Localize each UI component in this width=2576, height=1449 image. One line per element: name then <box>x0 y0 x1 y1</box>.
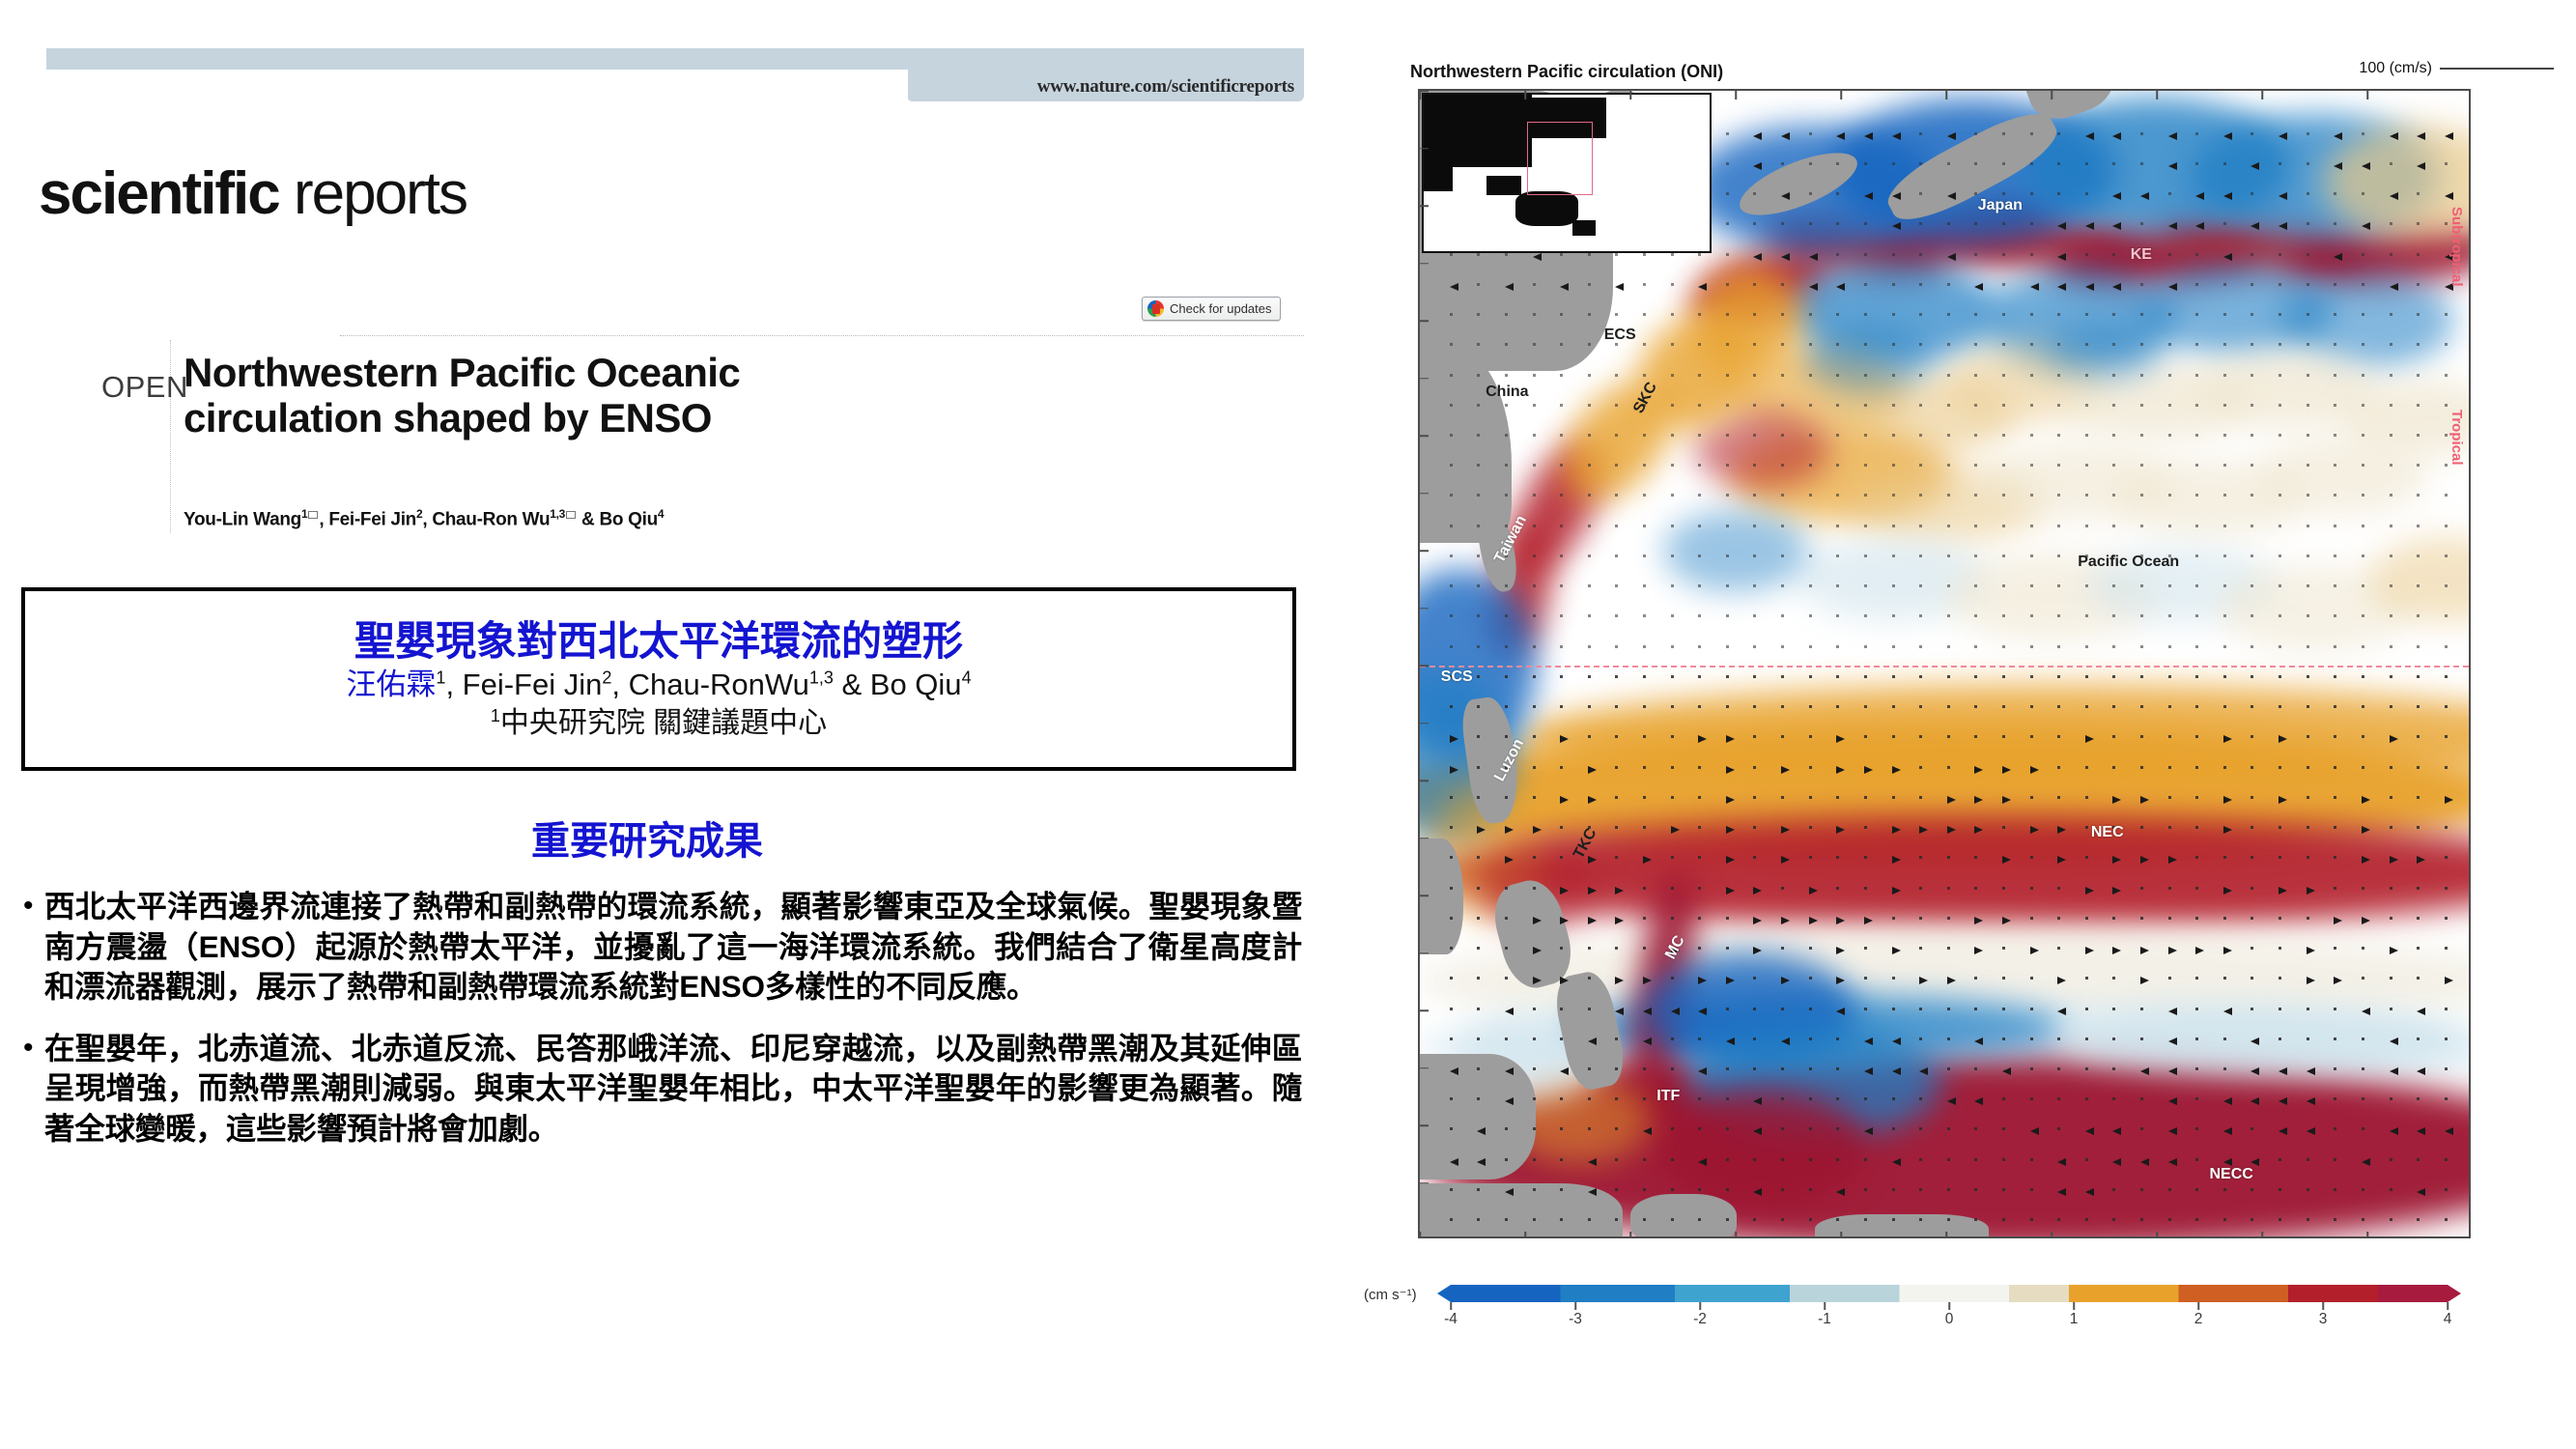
current-arrow <box>2168 1188 2171 1191</box>
current-arrow <box>1864 735 1867 738</box>
current-arrow <box>1919 343 1922 346</box>
current-arrow <box>1974 1008 1977 1010</box>
current-arrow <box>1836 645 1839 648</box>
current-arrow <box>2334 525 2336 527</box>
current-arrow <box>1781 525 1784 527</box>
current-arrow <box>2168 283 2177 291</box>
current-arrow <box>2002 253 2005 256</box>
current-arrow <box>2362 887 2364 890</box>
current-arrow <box>1643 464 1646 467</box>
current-arrow <box>2307 374 2309 377</box>
current-arrow <box>2334 434 2336 437</box>
current-arrow <box>1698 917 1701 920</box>
current-arrow <box>1505 434 1508 437</box>
current-arrow <box>1809 494 1812 497</box>
current-arrow <box>2168 705 2171 708</box>
current-arrow <box>1726 614 1729 617</box>
current-arrow <box>1671 343 1674 346</box>
current-arrow <box>2030 1188 2033 1191</box>
current-arrow <box>1588 253 1591 256</box>
current-arrow <box>1477 645 1480 648</box>
current-arrow <box>2279 1097 2287 1105</box>
current-arrow <box>1836 796 1839 799</box>
current-arrow <box>2417 887 2420 890</box>
current-arrow <box>1671 856 1674 859</box>
current-arrow <box>2085 374 2088 377</box>
current-arrow <box>2168 947 2177 954</box>
map-label-necc: NECC <box>2210 1166 2253 1183</box>
current-arrow <box>2390 947 2398 954</box>
current-arrow <box>2112 735 2115 738</box>
current-arrow <box>1864 645 1867 648</box>
current-arrow <box>1505 947 1508 950</box>
current-arrow <box>1753 554 1756 557</box>
current-arrow <box>1726 917 1729 920</box>
current-arrow <box>2112 1158 2121 1166</box>
current-arrow <box>2279 1158 2281 1161</box>
current-arrow <box>2195 132 2198 135</box>
current-arrow <box>1588 283 1591 286</box>
current-arrow <box>1588 705 1591 708</box>
current-arrow <box>1698 584 1701 587</box>
current-arrow <box>2223 192 2232 200</box>
current-arrow <box>1892 525 1895 527</box>
current-arrow <box>1588 1067 1591 1070</box>
current-arrow <box>2390 132 2398 140</box>
current-arrow <box>2445 1158 2448 1161</box>
current-arrow <box>2390 796 2392 799</box>
current-arrow <box>2112 132 2121 140</box>
y-axis-tick <box>1420 1067 1429 1069</box>
current-arrow <box>2417 796 2420 799</box>
current-arrow <box>1836 374 1839 377</box>
current-arrow <box>1836 343 1839 346</box>
current-arrow <box>1477 766 1480 769</box>
current-arrow <box>2002 162 2005 165</box>
current-arrow <box>2362 796 2370 804</box>
y-axis-tick <box>1420 148 1429 150</box>
map-label-itf: ITF <box>1656 1088 1680 1105</box>
current-arrow <box>2279 494 2281 497</box>
colorbar-tick-label: 3 <box>2319 1311 2328 1328</box>
current-arrow <box>2195 705 2198 708</box>
current-arrow <box>1947 494 1950 497</box>
current-arrow <box>2334 1037 2336 1040</box>
current-arrow <box>2362 434 2364 437</box>
current-arrow <box>1919 796 1922 799</box>
current-arrow <box>2030 856 2033 859</box>
current-arrow <box>1753 584 1756 587</box>
current-arrow <box>1974 1037 1983 1045</box>
current-arrow <box>1864 525 1867 527</box>
current-arrow <box>2445 374 2448 377</box>
paper-title: Northwestern Pacific Oceanic circulation… <box>184 350 821 441</box>
current-arrow <box>1533 796 1536 799</box>
current-arrow <box>2195 977 2198 980</box>
check-for-updates-label: Check for updates <box>1170 301 1272 316</box>
current-arrow <box>2223 374 2226 377</box>
chinese-affiliation: 1中央研究院 關鍵議題中心 <box>491 705 827 742</box>
current-arrow <box>1726 283 1729 286</box>
current-arrow <box>2334 132 2342 140</box>
current-arrow <box>1836 494 1839 497</box>
current-arrow <box>2223 645 2226 648</box>
current-arrow <box>2250 887 2253 890</box>
current-arrow <box>2002 584 2005 587</box>
colorbar-tick-label: 1 <box>2070 1311 2079 1328</box>
current-arrow <box>1892 343 1895 346</box>
current-arrow <box>2223 1127 2232 1135</box>
current-arrow <box>2334 1188 2336 1191</box>
current-arrow <box>2168 1037 2177 1045</box>
current-arrow <box>1698 977 1707 984</box>
current-arrow <box>2030 1067 2033 1070</box>
current-arrow <box>2112 947 2121 954</box>
y-axis-tick <box>1420 780 1429 781</box>
current-arrow <box>2334 494 2336 497</box>
current-arrow <box>1726 434 1729 437</box>
x-axis-tick-label: 130°E <box>1715 1236 1756 1238</box>
current-arrow <box>1450 404 1453 407</box>
current-arrow <box>1615 977 1624 984</box>
current-arrow <box>2362 494 2364 497</box>
circulation-map[interactable]: ChinaECSJapanKESKCTaiwanPacific OceanSCS… <box>1418 89 2471 1238</box>
current-arrow <box>1615 253 1618 256</box>
current-arrow <box>1836 434 1839 437</box>
current-arrow <box>1671 554 1674 557</box>
current-arrow <box>2030 1127 2039 1135</box>
current-arrow <box>1809 705 1812 708</box>
current-arrow <box>2390 374 2392 377</box>
current-arrow <box>1947 1188 1950 1191</box>
current-arrow <box>2085 614 2088 617</box>
current-arrow <box>1533 977 1542 984</box>
paper-authors: You-Lin Wang1, Fei-Fei Jin2, Chau-Ron Wu… <box>184 507 956 530</box>
current-arrow <box>2334 313 2336 316</box>
current-arrow <box>2334 554 2336 557</box>
current-arrow <box>2140 1158 2149 1166</box>
current-arrow <box>1477 977 1480 980</box>
current-arrow <box>1919 947 1922 950</box>
current-arrow <box>2195 434 2198 437</box>
current-arrow <box>2168 162 2177 170</box>
current-arrow <box>1974 434 1977 437</box>
current-arrow <box>2030 525 2033 527</box>
current-arrow <box>1560 283 1569 291</box>
current-arrow <box>1947 313 1950 316</box>
current-arrow <box>1643 1067 1646 1070</box>
current-arrow <box>1643 253 1646 256</box>
current-arrow <box>2085 1037 2088 1040</box>
current-arrow <box>1505 1218 1508 1221</box>
current-arrow <box>1781 374 1784 377</box>
current-arrow <box>1533 434 1536 437</box>
current-arrow <box>2445 222 2448 225</box>
current-arrow <box>2307 947 2315 954</box>
current-arrow <box>1947 977 1956 984</box>
current-arrow <box>1588 584 1591 587</box>
current-arrow <box>2250 222 2259 230</box>
current-arrow <box>2223 222 2226 225</box>
current-arrow <box>1643 584 1646 587</box>
current-arrow <box>1533 917 1542 924</box>
current-arrow <box>2057 1218 2060 1221</box>
current-arrow <box>1450 1037 1453 1040</box>
current-arrow <box>1892 1037 1901 1045</box>
current-arrow <box>1892 1188 1895 1191</box>
current-arrow <box>2002 887 2005 890</box>
current-arrow <box>1643 887 1646 890</box>
x-axis-tick-label: 158°E <box>2452 1236 2471 1238</box>
map-label-ke: KE <box>2131 246 2152 264</box>
current-arrow <box>1974 614 1977 617</box>
current-arrow <box>2002 705 2005 708</box>
current-arrow <box>1781 1067 1784 1070</box>
current-arrow <box>1947 162 1950 165</box>
current-arrow <box>1864 1218 1867 1221</box>
current-arrow <box>2390 977 2392 980</box>
current-arrow <box>2250 614 2253 617</box>
current-arrow <box>1533 766 1536 769</box>
current-arrow <box>1947 1218 1950 1221</box>
current-arrow <box>1919 222 1922 225</box>
current-arrow <box>1864 464 1867 467</box>
current-arrow <box>1947 614 1950 617</box>
current-arrow <box>2445 977 2453 984</box>
current-arrow <box>1919 283 1922 286</box>
current-arrow <box>1615 525 1618 527</box>
current-arrow <box>1477 494 1480 497</box>
current-arrow <box>2250 162 2259 170</box>
current-arrow <box>2279 887 2287 895</box>
current-arrow <box>1836 1218 1839 1221</box>
current-arrow <box>2390 464 2392 467</box>
current-arrow <box>2140 1097 2143 1100</box>
current-arrow <box>1919 162 1922 165</box>
current-arrow <box>1726 374 1729 377</box>
current-arrow <box>2334 1218 2336 1221</box>
current-arrow <box>1588 1008 1591 1010</box>
current-arrow <box>2334 766 2336 769</box>
current-arrow <box>1781 554 1784 557</box>
current-arrow <box>1781 192 1790 200</box>
current-arrow <box>2445 917 2448 920</box>
current-arrow <box>1450 887 1453 890</box>
current-arrow <box>1560 856 1563 859</box>
chinese-title-box: 聖嬰現象對西北太平洋環流的塑形 汪佑霖1, Fei-Fei Jin2, Chau… <box>21 587 1296 771</box>
current-arrow <box>2417 735 2420 738</box>
current-arrow <box>1643 705 1646 708</box>
current-arrow <box>1671 374 1674 377</box>
current-arrow <box>1671 434 1674 437</box>
current-arrow <box>2195 1067 2198 1070</box>
current-arrow <box>2002 404 2005 407</box>
current-arrow <box>2334 645 2336 648</box>
current-arrow <box>2250 856 2253 859</box>
current-arrow <box>2085 1067 2088 1070</box>
check-for-updates-badge[interactable]: Check for updates <box>1142 297 1281 321</box>
current-arrow <box>2112 464 2115 467</box>
current-arrow <box>2445 525 2448 527</box>
current-arrow <box>2223 826 2232 834</box>
current-arrow <box>1836 192 1839 195</box>
current-arrow <box>2195 675 2198 678</box>
current-arrow <box>1864 1158 1867 1161</box>
current-arrow <box>1836 554 1839 557</box>
current-arrow <box>1892 1067 1901 1075</box>
current-arrow <box>1671 494 1674 497</box>
current-arrow <box>2334 404 2336 407</box>
current-arrow <box>1726 675 1729 678</box>
current-arrow <box>2223 1097 2232 1105</box>
current-arrow <box>1726 796 1735 804</box>
current-arrow <box>2112 705 2115 708</box>
current-arrow <box>2002 1158 2005 1161</box>
current-arrow <box>1753 434 1756 437</box>
current-arrow <box>2112 856 2121 864</box>
current-arrow <box>1809 222 1812 225</box>
current-arrow <box>2390 404 2392 407</box>
current-arrow <box>2307 1008 2309 1010</box>
current-arrow <box>1588 1037 1597 1045</box>
inset-landmass-australia <box>1515 191 1578 226</box>
x-axis-tick <box>1945 1232 1947 1238</box>
current-arrow <box>2223 404 2226 407</box>
current-arrow <box>1450 1218 1453 1221</box>
current-arrow <box>1643 494 1646 497</box>
current-arrow <box>2085 343 2088 346</box>
current-arrow <box>1892 766 1901 774</box>
current-arrow <box>2030 1218 2033 1221</box>
current-arrow <box>1477 1037 1480 1040</box>
x-axis-tick-top <box>1840 91 1842 99</box>
current-arrow <box>1781 1097 1784 1100</box>
current-arrow <box>1892 162 1895 165</box>
y-axis-tick <box>1420 263 1429 265</box>
current-arrow <box>2417 1188 2425 1196</box>
current-arrow <box>2030 313 2033 316</box>
current-arrow <box>1974 917 1983 924</box>
current-arrow <box>1974 525 1977 527</box>
current-arrow <box>1864 162 1867 165</box>
current-arrow <box>2195 404 2198 407</box>
current-arrow <box>2279 705 2281 708</box>
current-arrow <box>1809 887 1818 895</box>
current-arrow <box>2168 253 2171 256</box>
current-arrow <box>1615 705 1618 708</box>
current-arrow <box>1864 192 1873 200</box>
current-arrow <box>1588 343 1591 346</box>
current-arrow <box>1781 917 1790 924</box>
current-arrow <box>1726 947 1729 950</box>
current-arrow <box>2168 464 2171 467</box>
anomaly-blob <box>2047 321 2163 379</box>
current-arrow <box>2445 856 2448 859</box>
current-arrow <box>2307 1127 2315 1135</box>
current-arrow <box>1560 766 1563 769</box>
current-arrow <box>2223 947 2232 954</box>
current-arrow <box>1753 645 1756 648</box>
current-arrow <box>1726 554 1729 557</box>
current-arrow <box>1450 554 1453 557</box>
current-arrow <box>2417 464 2420 467</box>
current-arrow <box>1560 1097 1563 1100</box>
current-arrow <box>2085 162 2088 165</box>
current-arrow <box>2057 796 2060 799</box>
current-arrow <box>2390 856 2398 864</box>
current-arrow <box>2334 614 2336 617</box>
current-arrow <box>2168 132 2177 140</box>
x-axis-tick-label: 146°E <box>2137 1236 2177 1238</box>
current-arrow <box>2223 464 2226 467</box>
current-arrow <box>2168 826 2171 829</box>
x-axis-tick <box>2261 1232 2263 1238</box>
current-arrow <box>2417 1158 2420 1161</box>
current-arrow <box>1671 675 1674 678</box>
current-arrow <box>2279 1008 2281 1010</box>
y-axis-tick <box>1420 550 1429 552</box>
current-arrow <box>1477 947 1480 950</box>
current-arrow <box>1560 554 1563 557</box>
current-arrow <box>2223 1037 2226 1040</box>
current-arrow <box>2168 887 2171 890</box>
current-arrow <box>2112 645 2115 648</box>
current-arrow <box>2030 826 2039 834</box>
current-arrow <box>2168 1008 2177 1015</box>
current-arrow <box>2085 132 2094 140</box>
current-arrow <box>1919 887 1922 890</box>
current-arrow <box>2057 705 2060 708</box>
x-axis-tick-label: 126°E <box>1610 1236 1651 1238</box>
current-arrow <box>2140 222 2143 225</box>
current-arrow <box>1615 614 1618 617</box>
current-arrow <box>2002 554 2005 557</box>
current-arrow <box>1560 404 1563 407</box>
current-arrow <box>1753 464 1756 467</box>
current-arrow <box>2417 525 2420 527</box>
current-arrow <box>2445 1188 2448 1191</box>
current-arrow <box>1505 1158 1508 1161</box>
current-arrow <box>2085 856 2088 859</box>
x-axis-tick <box>2366 1232 2368 1238</box>
colorbar-tick-label: -2 <box>1693 1311 1707 1328</box>
current-arrow <box>2057 464 2060 467</box>
current-arrow <box>1505 343 1508 346</box>
current-arrow <box>2030 253 2033 256</box>
current-arrow <box>2390 192 2398 200</box>
colorbar-tick <box>2447 1302 2449 1310</box>
current-arrow <box>1753 253 1762 261</box>
current-arrow <box>1643 735 1646 738</box>
current-arrow <box>2140 796 2149 804</box>
current-arrow <box>2279 283 2281 286</box>
current-arrow <box>2195 1218 2198 1221</box>
current-arrow <box>1505 705 1508 708</box>
current-arrow <box>1698 887 1701 890</box>
current-arrow <box>1671 977 1674 980</box>
current-arrow <box>2140 645 2143 648</box>
current-arrow <box>1505 283 1514 291</box>
current-arrow <box>2362 1097 2364 1100</box>
figure-title: Northwestern Pacific circulation (ONI) <box>1410 62 1723 82</box>
current-arrow <box>1643 675 1646 678</box>
current-arrow <box>2057 525 2060 527</box>
current-arrow <box>2030 614 2033 617</box>
current-arrow <box>2334 977 2342 984</box>
logo-word-reports: reports <box>279 160 467 227</box>
current-arrow <box>1726 1188 1729 1191</box>
current-arrow <box>1753 1218 1756 1221</box>
